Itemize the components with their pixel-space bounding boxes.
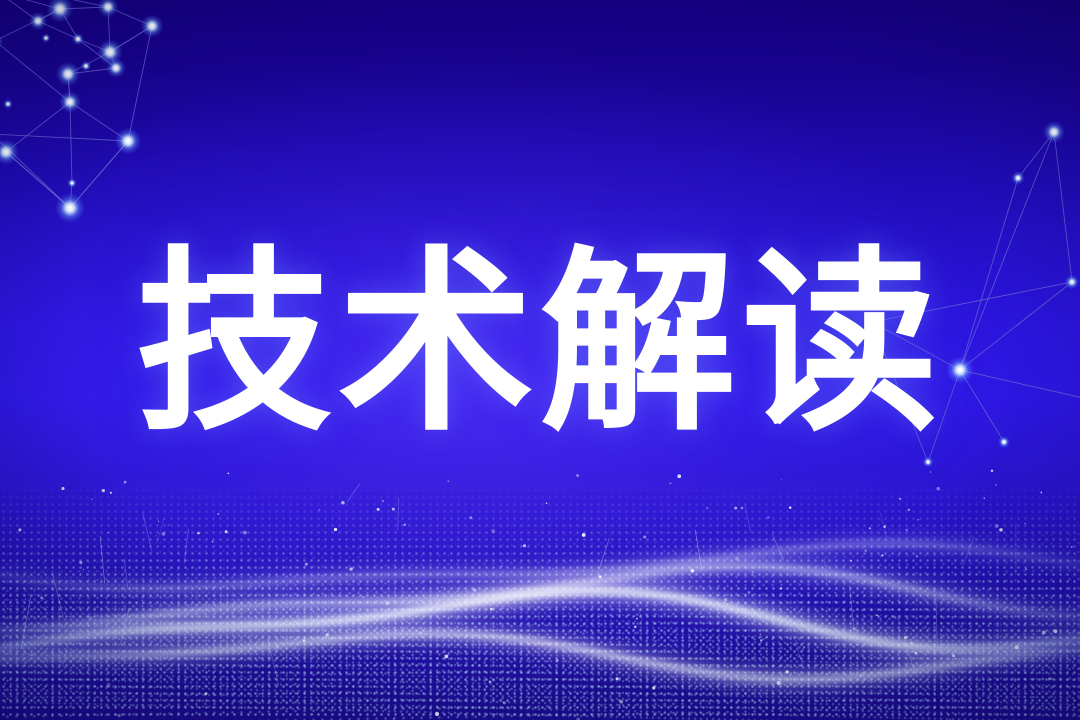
poster-canvas: 技术解读 (0, 0, 1080, 720)
page-title: 技术解读 (136, 246, 944, 442)
headline-block: 技术解读 (0, 246, 1080, 442)
